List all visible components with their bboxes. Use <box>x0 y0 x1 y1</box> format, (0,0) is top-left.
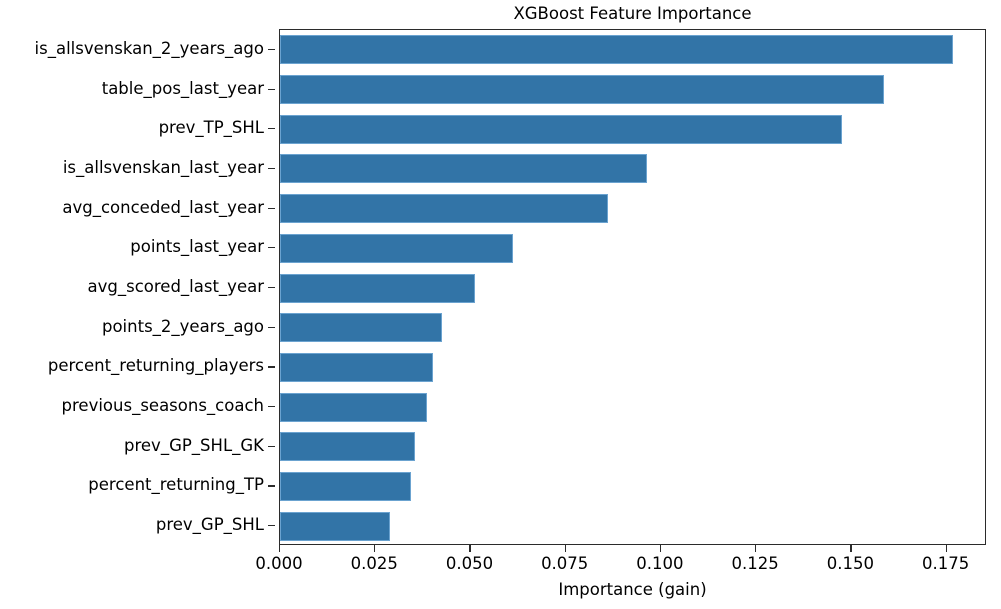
y-tick-mark <box>268 485 275 486</box>
bar <box>280 313 442 342</box>
y-tick-mark <box>268 366 275 367</box>
x-tick-mark <box>660 545 661 552</box>
y-tick-mark <box>268 49 275 50</box>
y-tick-label: percent_returning_TP <box>88 474 264 496</box>
bar <box>280 472 411 501</box>
y-tick-label: avg_conceded_last_year <box>62 197 264 219</box>
y-tick-label: avg_scored_last_year <box>88 276 264 298</box>
y-tick-label: points_last_year <box>130 236 264 258</box>
bar <box>280 432 415 461</box>
y-tick-mark <box>268 168 275 169</box>
bar <box>280 194 608 223</box>
y-tick-mark <box>268 247 275 248</box>
bar <box>280 234 513 263</box>
x-tick-label: 0.175 <box>886 554 1001 573</box>
bar <box>280 75 884 104</box>
y-tick-label: previous_seasons_coach <box>62 395 264 417</box>
y-tick-mark <box>268 446 275 447</box>
plot-area <box>279 29 986 545</box>
bar <box>280 353 433 382</box>
y-tick-mark <box>268 327 275 328</box>
y-tick-label: points_2_years_ago <box>102 316 264 338</box>
y-tick-mark <box>268 89 275 90</box>
x-tick-mark <box>469 545 470 552</box>
x-axis: 0.0000.0250.0500.0750.1000.1250.1500.175 <box>279 545 986 609</box>
y-tick-mark <box>268 406 275 407</box>
x-tick-mark <box>279 545 280 552</box>
y-tick-label: is_allsvenskan_2_years_ago <box>35 38 264 60</box>
y-tick-label: prev_TP_SHL <box>159 117 264 139</box>
y-tick-mark <box>268 525 275 526</box>
y-tick-label: percent_returning_players <box>48 355 264 377</box>
y-tick-mark <box>268 128 275 129</box>
x-tick-mark <box>946 545 947 552</box>
y-tick-label: is_allsvenskan_last_year <box>63 157 264 179</box>
bar <box>280 274 475 303</box>
bar <box>280 393 427 422</box>
x-tick-mark <box>374 545 375 552</box>
y-tick-mark <box>268 208 275 209</box>
y-tick-label: prev_GP_SHL_GK <box>124 435 264 457</box>
bar <box>280 35 953 64</box>
y-tick-mark <box>268 287 275 288</box>
x-tick-mark <box>850 545 851 552</box>
bar <box>280 115 842 144</box>
y-axis: is_allsvenskan_2_years_agotable_pos_last… <box>0 29 279 545</box>
y-tick-label: prev_GP_SHL <box>156 514 264 536</box>
xgboost-feature-importance-figure: XGBoost Feature Importance is_allsvenska… <box>0 0 1001 609</box>
bar <box>280 154 647 183</box>
y-tick-label: table_pos_last_year <box>102 78 264 100</box>
x-axis-label: Importance (gain) <box>279 580 986 599</box>
bars-layer <box>280 30 985 544</box>
bar <box>280 512 390 541</box>
x-tick-mark <box>755 545 756 552</box>
chart-title: XGBoost Feature Importance <box>279 4 986 23</box>
x-tick-mark <box>565 545 566 552</box>
